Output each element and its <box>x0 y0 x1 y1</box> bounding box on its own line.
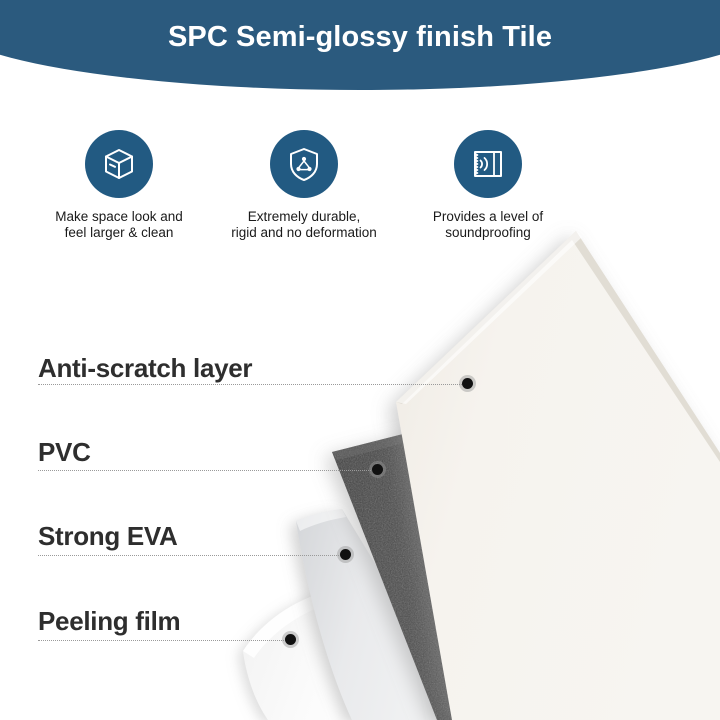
feature-icon-circle <box>270 130 338 198</box>
leader-dot-anti-scratch <box>462 378 473 389</box>
box-3d-icon <box>100 145 138 183</box>
feature-caption: Make space look and feel larger & clean <box>24 209 214 241</box>
feature-highlights: Make space look and feel larger & clean … <box>0 130 620 255</box>
layer-label-pvc: PVC <box>38 437 91 468</box>
leader-line-pvc <box>38 470 373 471</box>
feature-item-soundproofing: Provides a level of soundproofing <box>393 130 583 241</box>
feature-caption: Provides a level of soundproofing <box>393 209 583 241</box>
feature-icon-circle <box>85 130 153 198</box>
leader-line-strong-eva <box>38 555 341 556</box>
feature-item-durable: Extremely durable, rigid and no deformat… <box>209 130 399 241</box>
leader-dot-peeling-film <box>285 634 296 645</box>
shield-durable-icon <box>286 145 322 183</box>
leader-dot-pvc <box>372 464 383 475</box>
feature-icon-circle <box>454 130 522 198</box>
leader-line-anti-scratch <box>38 384 462 385</box>
layer-label-anti-scratch: Anti-scratch layer <box>38 353 252 384</box>
product-infographic: SPC Semi-glossy finish Tile Make space l… <box>0 0 720 720</box>
page-title: SPC Semi-glossy finish Tile <box>0 21 720 54</box>
layer-label-peeling-film: Peeling film <box>38 606 180 637</box>
feature-item-space: Make space look and feel larger & clean <box>24 130 214 241</box>
leader-line-peeling-film <box>38 640 286 641</box>
soundproofing-icon <box>469 145 507 183</box>
layer-callouts: Anti-scratch layer PVC Strong EVA Peelin… <box>0 0 720 720</box>
leader-dot-strong-eva <box>340 549 351 560</box>
layer-label-strong-eva: Strong EVA <box>38 521 178 552</box>
feature-caption: Extremely durable, rigid and no deformat… <box>209 209 399 241</box>
